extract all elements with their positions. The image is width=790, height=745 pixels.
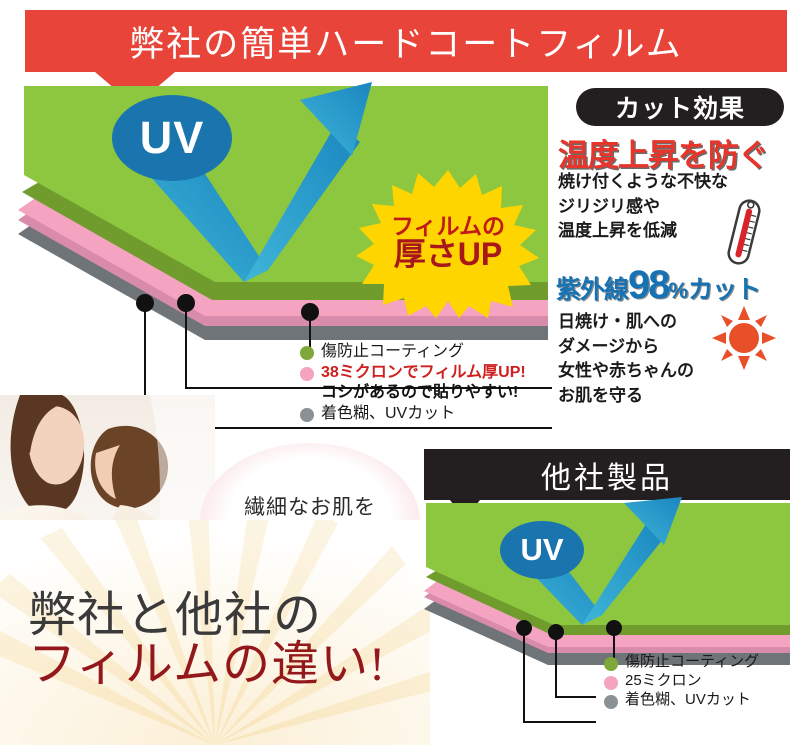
sun-icon xyxy=(712,306,776,370)
legend-label-thickness: 38ミクロンでフィルム厚UP! xyxy=(321,363,526,383)
other-legend-item-adhesive: 着色糊、UVカット xyxy=(604,691,790,709)
bubble-line-1: 繊細なお肌を xyxy=(244,493,376,522)
legend-thickness-text-group: 38ミクロンでフィルム厚UP! コシがあるので貼りやすい! xyxy=(321,363,526,403)
legend-label-coating: 傷防止コーティング xyxy=(321,342,464,362)
burst-line-1: フィルムの xyxy=(391,214,505,238)
comparison-title: 弊社と他社の フィルムの違い! xyxy=(28,592,428,690)
uv-headline-prefix: 紫外線 xyxy=(556,270,628,306)
legend-label-stiffness: コシがあるので貼りやすい! xyxy=(321,383,526,403)
infographic-canvas: 弊社の簡単ハードコートフィルム xyxy=(0,0,790,745)
cut-effect-pill: カット効果 xyxy=(576,88,784,126)
uv-badge-main: UV xyxy=(112,95,232,181)
main-legend: 傷防止コーティング 38ミクロンでフィルム厚UP! コシがあるので貼りやすい! … xyxy=(300,342,550,425)
uv-headline-number: 98 xyxy=(628,265,669,305)
uv-headline-percent: % xyxy=(669,278,689,304)
legend-dot-green-icon xyxy=(300,346,314,360)
uv-headline-suffix: カット xyxy=(688,270,760,306)
other-company-bar: 他社製品 xyxy=(424,449,790,500)
uv-headline: 紫外線 98 % カット xyxy=(556,265,790,307)
other-legend-item-coating: 傷防止コーティング xyxy=(604,653,790,671)
thermometer-icon xyxy=(722,192,766,272)
uv-badge-other: UV xyxy=(500,521,584,579)
other-legend-label-adhesive: 着色糊、UVカット xyxy=(625,691,751,709)
legend-label-adhesive: 着色糊、UVカット xyxy=(321,404,455,424)
other-legend-label-coating: 傷防止コーティング xyxy=(625,653,759,671)
comparison-title-line-2: フィルムの違い! xyxy=(28,641,428,690)
legend-item-adhesive: 着色糊、UVカット xyxy=(300,404,550,424)
legend-item-coating: 傷防止コーティング xyxy=(300,342,550,362)
other-legend-item-micron: 25ミクロン xyxy=(604,672,790,690)
thickness-up-burst: フィルムの 厚さUP xyxy=(356,168,540,318)
legend-item-thickness: 38ミクロンでフィルム厚UP! コシがあるので貼りやすい! xyxy=(300,363,550,403)
other-legend-dot-green-icon xyxy=(604,657,618,671)
other-legend-dot-gray-icon xyxy=(604,695,618,709)
legend-dot-pink-icon xyxy=(300,367,314,381)
header-banner: 弊社の簡単ハードコートフィルム xyxy=(25,10,787,72)
other-legend-label-micron: 25ミクロン xyxy=(625,672,702,690)
burst-line-2: 厚さUP xyxy=(394,238,502,272)
other-legend: 傷防止コーティング 25ミクロン 着色糊、UVカット xyxy=(604,653,790,710)
heat-headline: 温度上昇を防ぐ xyxy=(558,130,790,175)
other-legend-dot-pink-icon xyxy=(604,676,618,690)
header-banner-title: 弊社の簡単ハードコートフィルム xyxy=(25,10,787,72)
legend-dot-gray-icon xyxy=(300,408,314,422)
comparison-title-line-1: 弊社と他社の xyxy=(28,592,428,641)
thickness-up-burst-text: フィルムの 厚さUP xyxy=(356,168,540,318)
other-company-title: 他社製品 xyxy=(424,449,790,500)
